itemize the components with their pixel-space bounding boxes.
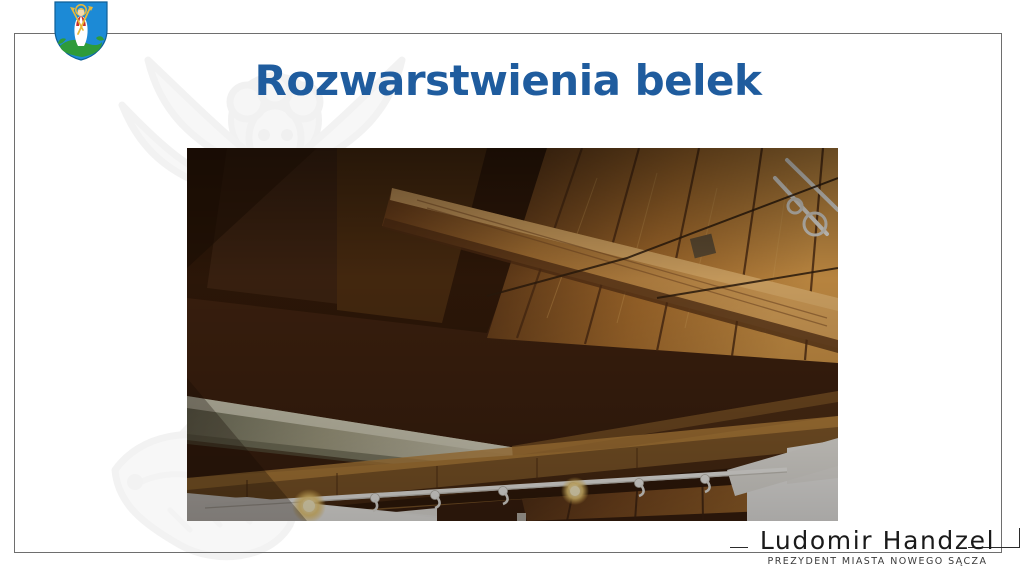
- signature-name: Ludomir Handzel: [735, 528, 1020, 554]
- coat-of-arms-icon: [52, 0, 110, 62]
- presentation-slide: Rozwarstwienia belek: [0, 0, 1024, 576]
- wooden-ceiling-beams-photo: [187, 148, 838, 521]
- page-title-text: Rozwarstwienia belek: [255, 58, 762, 104]
- page-title: Rozwarstwienia belek: [14, 58, 1002, 104]
- signature-role: PREZYDENT MIASTA NOWEGO SĄCZA: [735, 556, 1020, 567]
- president-signature: Ludomir Handzel PREZYDENT MIASTA NOWEGO …: [735, 528, 1020, 574]
